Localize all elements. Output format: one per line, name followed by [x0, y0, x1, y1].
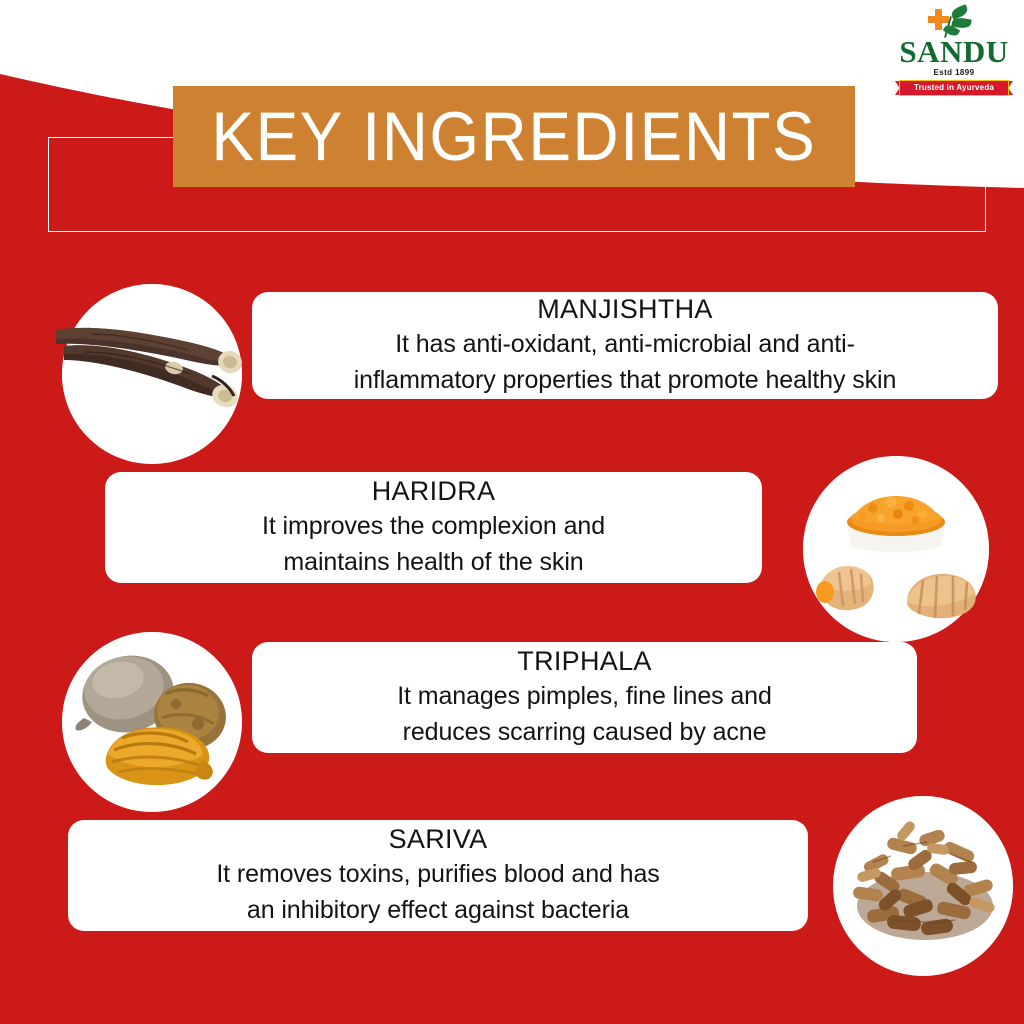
ingredient-description-line: reduces scarring caused by acne — [403, 714, 767, 750]
ingredient-description-line: It removes toxins, purifies blood and ha… — [216, 856, 659, 892]
logo-tagline: Trusted in Ayurveda — [899, 80, 1009, 96]
ingredient-description-line: inflammatory properties that promote hea… — [354, 362, 897, 398]
manjishtha-root-illustration — [62, 284, 242, 464]
manjishtha-root-photo — [62, 284, 242, 464]
haridra-turmeric-photo — [803, 456, 989, 642]
ingredient-name: MANJISHTHA — [537, 293, 713, 326]
sandu-logo: SANDU Estd 1899 Trusted in Ayurveda — [895, 6, 1013, 90]
key-ingredients-poster: KEY INGREDIENTS SANDU Estd 1899 Trusted … — [0, 0, 1024, 1024]
logo-wordmark: SANDU — [895, 36, 1013, 67]
ingredient-name: HARIDRA — [372, 475, 496, 508]
sariva-root-pile-illustration — [833, 796, 1013, 976]
logo-ribbon: Trusted in Ayurveda — [895, 80, 1013, 96]
sariva-root-photo — [833, 796, 1013, 976]
ingredient-description-line: It has anti-oxidant, anti-microbial and … — [395, 326, 855, 362]
ingredient-description-line: an inhibitory effect against bacteria — [247, 892, 629, 928]
turmeric-bowl-illustration — [803, 456, 989, 642]
ingredient-card: HARIDRA It improves the complexion and m… — [105, 472, 762, 583]
logo-established-text: Estd 1899 — [895, 68, 1013, 78]
page-title: KEY INGREDIENTS — [200, 86, 827, 187]
ingredient-description-line: It improves the complexion and — [262, 508, 605, 544]
ingredient-description-line: It manages pimples, fine lines and — [397, 678, 772, 714]
logo-plant-cross-icon — [895, 6, 1013, 36]
ingredient-name: SARIVA — [389, 823, 488, 856]
ingredient-card: SARIVA It removes toxins, purifies blood… — [68, 820, 808, 931]
ingredient-card: TRIPHALA It manages pimples, fine lines … — [252, 642, 917, 753]
ingredient-card: MANJISHTHA It has anti-oxidant, anti-mic… — [252, 292, 998, 399]
triphala-fruits-photo — [62, 632, 242, 812]
ingredient-name: TRIPHALA — [517, 645, 651, 678]
triphala-fruits-illustration — [62, 632, 242, 812]
ingredient-description-line: maintains health of the skin — [283, 544, 583, 580]
